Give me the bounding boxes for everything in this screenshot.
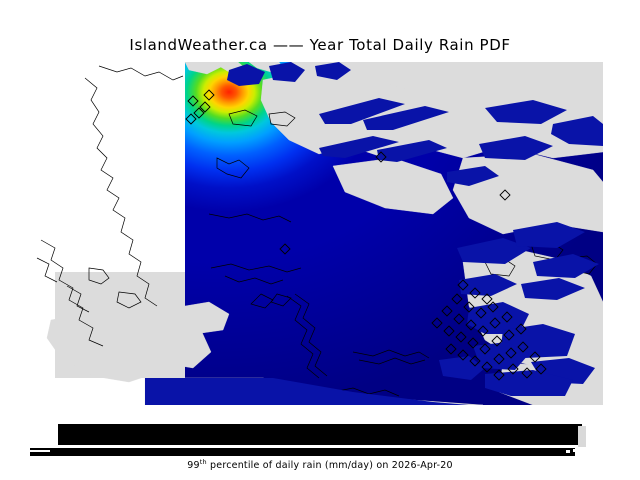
page-title: IslandWeather.ca —— Year Total Daily Rai…: [0, 36, 640, 54]
colorbar-tick-right-outer: [573, 449, 576, 452]
caption-prefix: 99: [187, 460, 200, 471]
colorbar-caption: 99th percentile of daily rain (mm/day) o…: [0, 458, 640, 471]
colorbar[interactable]: [58, 424, 582, 445]
figure-canvas: IslandWeather.ca —— Year Total Daily Rai…: [0, 0, 640, 480]
map-axes[interactable]: [33, 62, 603, 405]
colorbar-tick-right: [566, 450, 570, 453]
caption-superscript: th: [200, 458, 207, 466]
colorbar-tick-left-upper: [32, 446, 44, 448]
colorbar-edge-shadow: [578, 426, 586, 447]
colorbar-axis-line: [30, 448, 575, 456]
colorbar-tick-left: [28, 450, 50, 452]
station-marker-layer[interactable]: [33, 62, 603, 405]
caption-suffix: percentile of daily rain (mm/day) on 202…: [207, 460, 453, 471]
